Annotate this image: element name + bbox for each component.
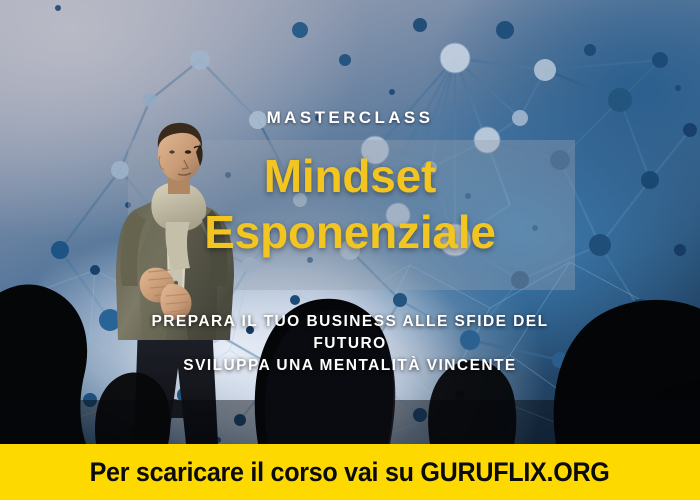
subtitle-line-2: FUTURO: [0, 333, 700, 355]
subtitle-line-3: SVILUPPA UNA MENTALITÀ VINCENTE: [0, 355, 700, 377]
title-line-2: Esponenziale: [0, 204, 700, 260]
title-line-1: Mindset: [0, 148, 700, 204]
download-banner-text: Per scaricare il corso vai su GURUFLIX.O…: [90, 457, 610, 488]
subtitle-line-1: PREPARA IL TUO BUSINESS ALLE SFIDE DEL: [0, 311, 700, 333]
headline-title: Mindset Esponenziale: [0, 148, 700, 260]
download-banner: Per scaricare il corso vai su GURUFLIX.O…: [0, 444, 700, 500]
video-thumbnail-slide: MASTERCLASS Mindset Esponenziale PREPARA…: [0, 0, 700, 500]
eyebrow-masterclass: MASTERCLASS: [0, 108, 700, 128]
subtitle-block: PREPARA IL TUO BUSINESS ALLE SFIDE DEL F…: [0, 311, 700, 377]
